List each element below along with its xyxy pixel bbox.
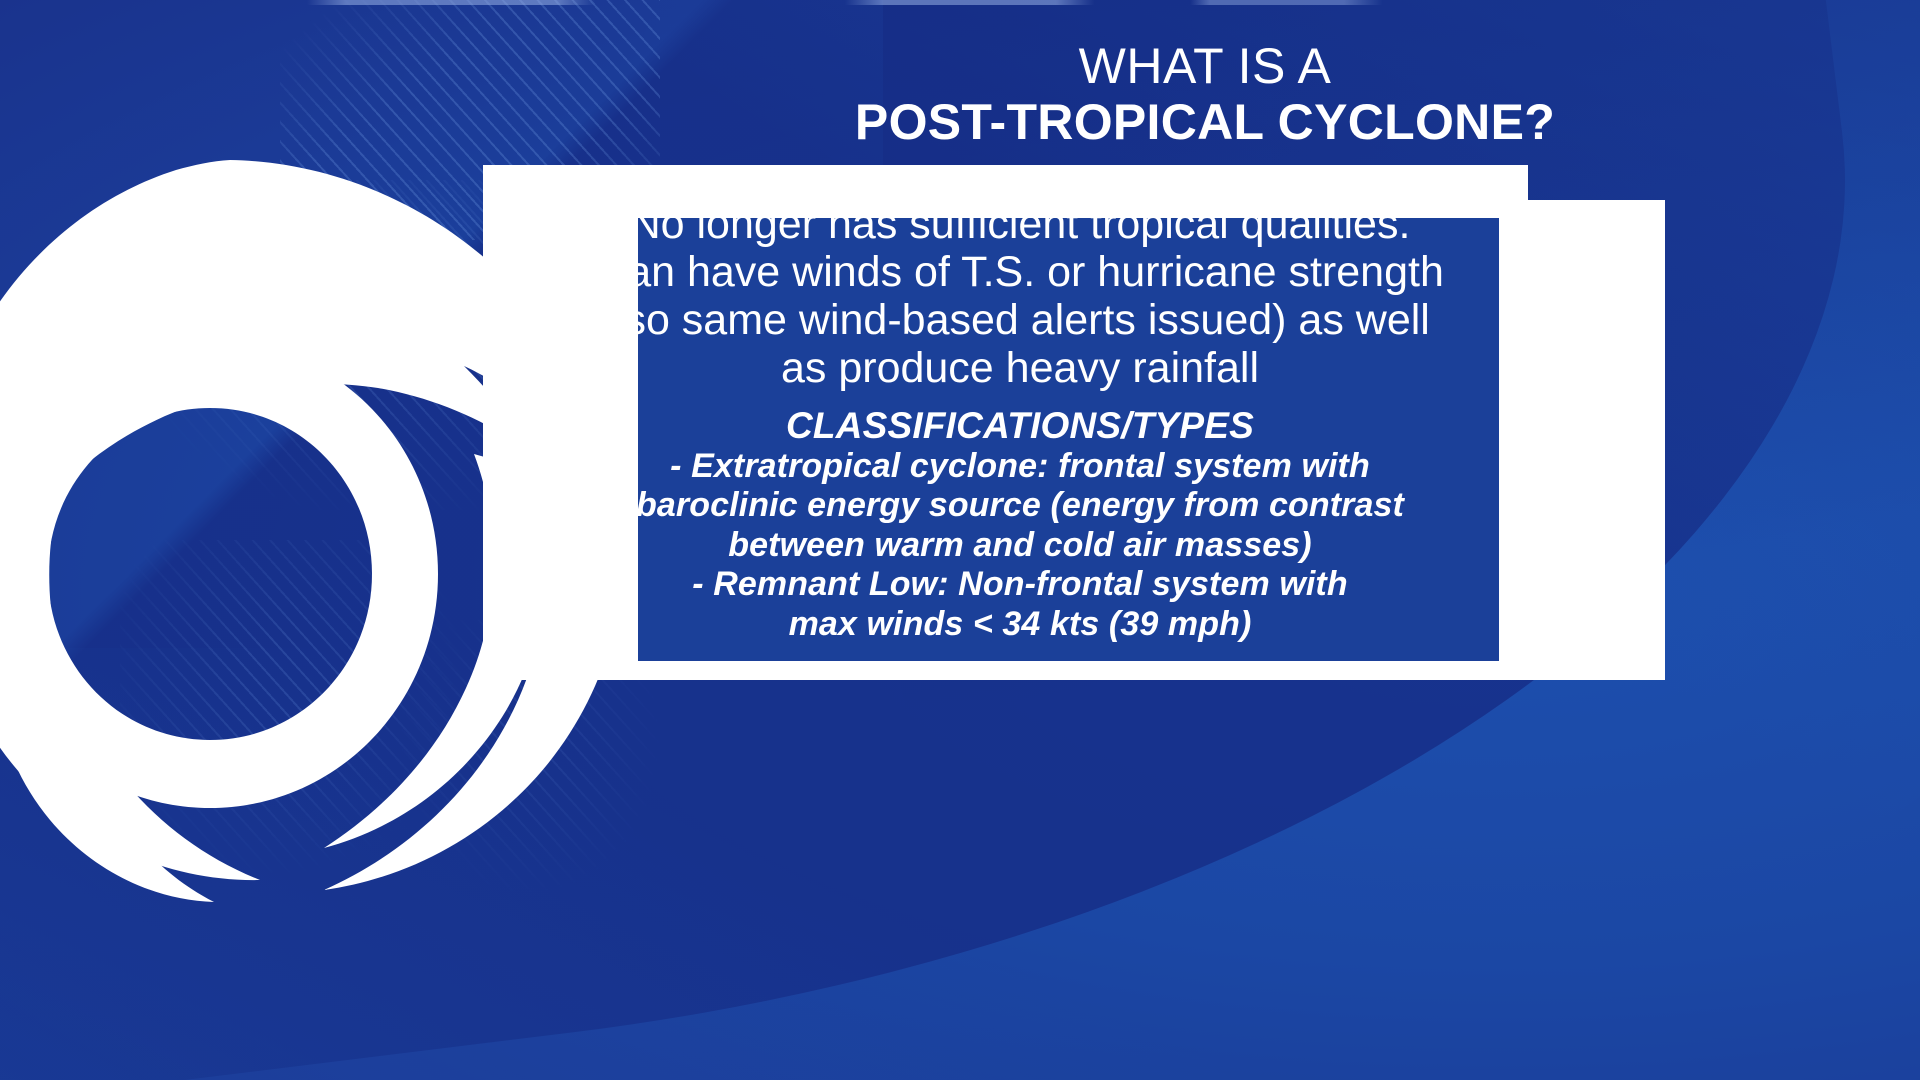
classifications-heading: CLASSIFICATIONS/TYPES	[520, 405, 1520, 447]
definition-line: Can have winds of T.S. or hurricane stre…	[520, 248, 1520, 296]
classifications-paragraph: - Extratropical cyclone: frontal system …	[520, 447, 1520, 644]
classification-line: max winds < 34 kts (39 mph)	[520, 605, 1520, 644]
definition-paragraph: No longer has sufficient tropical qualit…	[520, 200, 1520, 393]
definition-line: No longer has sufficient tropical qualit…	[520, 200, 1520, 248]
top-edge-strip	[0, 0, 1920, 5]
slide-title: WHAT IS A POST-TROPICAL CYCLONE?	[700, 40, 1710, 148]
definition-line: (so same wind-based alerts issued) as we…	[520, 296, 1520, 344]
content-text-block: No longer has sufficient tropical qualit…	[520, 200, 1520, 644]
classification-line: - Remnant Low: Non-frontal system with	[520, 565, 1520, 604]
classification-line: - Extratropical cyclone: frontal system …	[520, 447, 1520, 486]
classification-line: baroclinic energy source (energy from co…	[520, 486, 1520, 525]
title-line-2: POST-TROPICAL CYCLONE?	[700, 96, 1710, 148]
definition-line: as produce heavy rainfall	[520, 344, 1520, 392]
classification-line: between warm and cold air masses)	[520, 526, 1520, 565]
title-line-1: WHAT IS A	[700, 40, 1710, 92]
